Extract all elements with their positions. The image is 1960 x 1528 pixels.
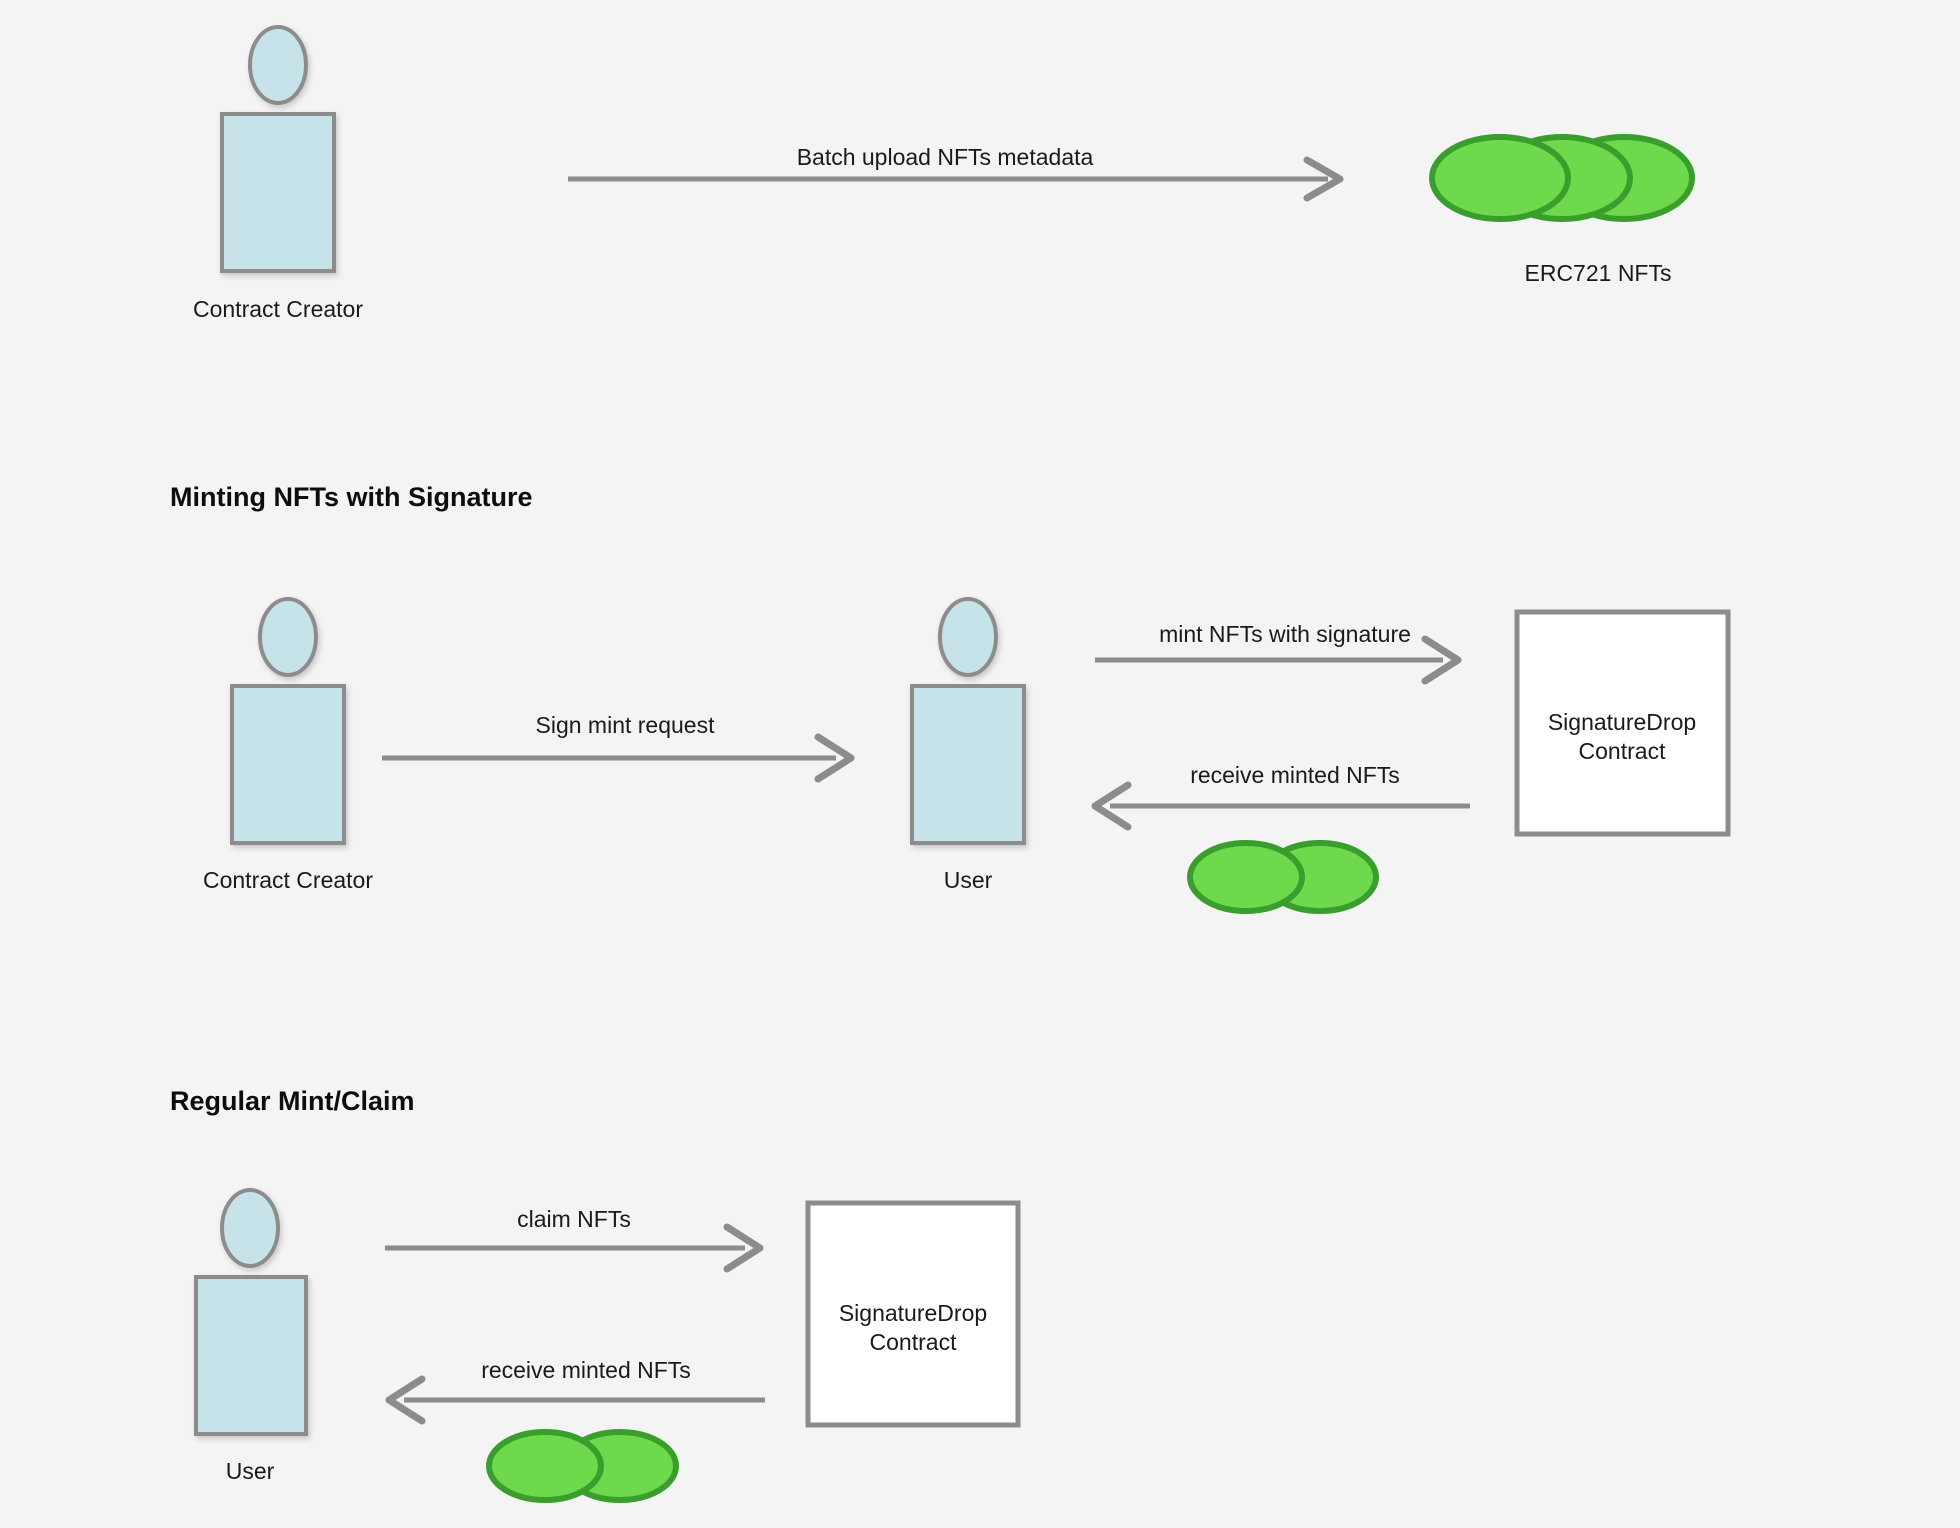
person-head-icon — [250, 27, 306, 103]
contract-box-label-line2: Contract — [1579, 738, 1667, 764]
edge-label-receive-minted-nfts-mid: receive minted NFTs — [1190, 762, 1400, 788]
contract-box-label-line2: Contract — [870, 1329, 958, 1355]
nft-oval-icon — [1190, 843, 1302, 911]
person-head-icon — [940, 599, 996, 675]
actor-label-user-mid: User — [944, 867, 993, 893]
edge-label-claim-nfts: claim NFTs — [517, 1206, 631, 1232]
actor-label-user-bottom: User — [226, 1458, 275, 1484]
asset-erc721-nfts[interactable] — [1432, 137, 1692, 219]
edge-label-mint-with-signature: mint NFTs with signature — [1159, 621, 1411, 647]
person-body-icon — [222, 114, 334, 271]
actor-label-contract-creator-mid: Contract Creator — [203, 867, 373, 893]
nft-oval-icon — [1432, 137, 1568, 219]
edge-label-batch-upload: Batch upload NFTs metadata — [797, 144, 1094, 170]
contract-box-label-line1: SignatureDrop — [1548, 709, 1696, 735]
diagram-canvas: Contract Creator Batch upload NFTs metad… — [0, 0, 1960, 1528]
box-signaturedrop-contract-mid[interactable]: SignatureDrop Contract — [1517, 612, 1728, 834]
edge-label-receive-minted-nfts-bottom: receive minted NFTs — [481, 1357, 691, 1383]
edge-label-sign-mint-request: Sign mint request — [536, 712, 716, 738]
person-body-icon — [912, 686, 1024, 843]
contract-box-label-line1: SignatureDrop — [839, 1300, 987, 1326]
person-body-icon — [232, 686, 344, 843]
person-head-icon — [260, 599, 316, 675]
actor-label-contract-creator-top: Contract Creator — [193, 296, 363, 322]
person-body-icon — [196, 1277, 306, 1434]
section-heading-minting: Minting NFTs with Signature — [170, 482, 532, 512]
box-signaturedrop-contract-bottom[interactable]: SignatureDrop Contract — [808, 1203, 1018, 1425]
person-head-icon — [222, 1190, 278, 1266]
asset-minted-nfts-bottom[interactable] — [489, 1432, 676, 1500]
asset-minted-nfts-mid[interactable] — [1190, 843, 1376, 911]
section-heading-regular: Regular Mint/Claim — [170, 1086, 415, 1116]
asset-label-erc721-nfts: ERC721 NFTs — [1525, 260, 1672, 286]
nft-oval-icon — [489, 1432, 601, 1500]
